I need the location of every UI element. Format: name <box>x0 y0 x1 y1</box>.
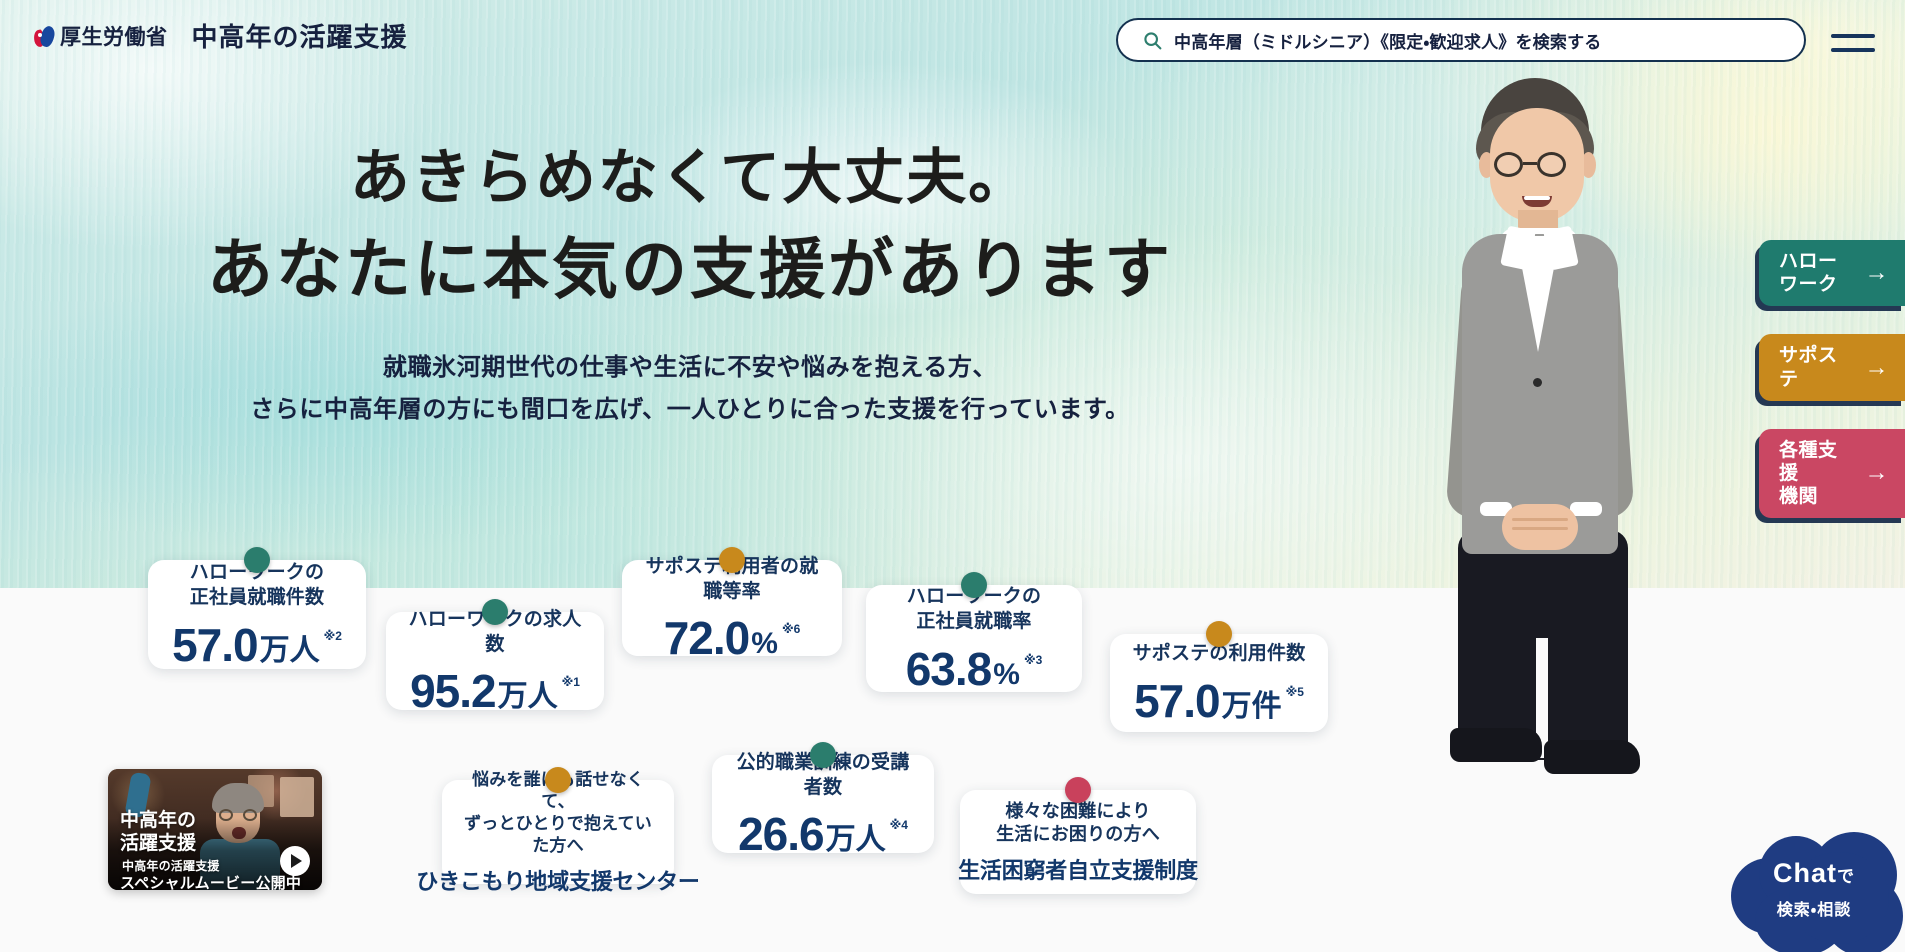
search-input[interactable]: 中高年層（ミドルシニア）《限定・歓迎求人》を検索する <box>1116 18 1806 62</box>
card-value-row: 72.0 % ※6 <box>664 615 801 661</box>
card-link-name: ひきこもり地域支援センター <box>416 869 699 895</box>
mhlw-emblem-icon <box>34 26 55 49</box>
card-pin <box>244 547 270 573</box>
stat-card-sapostay-usage[interactable]: サポステの利用件数 57.0 万件 ※5 <box>1110 634 1328 732</box>
card-value: 95.2 <box>410 668 496 714</box>
card-value-row: 57.0 万人 ※2 <box>172 622 342 668</box>
card-value-row: 26.6 万人 ※4 <box>738 811 908 857</box>
side-tab-support-orgs[interactable]: 各種支援 機関 → <box>1759 429 1905 519</box>
card-unit: % <box>751 629 778 659</box>
brand-lockup[interactable]: 厚生労働省 中高年の活躍支援 <box>34 24 408 50</box>
page-root: 厚生労働省 中高年の活躍支援 中高年層（ミドルシニア）《限定・歓迎求人》を検索す… <box>0 0 1905 952</box>
card-unit: 万人 <box>260 636 320 666</box>
card-value: 57.0 <box>1134 678 1220 724</box>
ministry-name: 厚生労働省 <box>60 27 168 48</box>
chat-label-group: Chatで 検索・相談 <box>1731 860 1897 920</box>
side-tab-group: ハロー ワーク → サポステ → 各種支援 機関 → <box>1759 240 1905 518</box>
stat-card-hellowork-openings[interactable]: ハローワークの求人数 95.2 万人 ※1 <box>386 612 604 710</box>
card-pin <box>719 547 745 573</box>
card-link-name: 生活困窮者自立支援制度 <box>958 858 1198 884</box>
side-tab-sapostay-label: サポステ <box>1779 344 1857 390</box>
card-footnote: ※1 <box>562 676 580 688</box>
side-tab-hellowork-label: ハロー ワーク <box>1779 250 1838 296</box>
card-value-row: 63.8 % ※3 <box>906 646 1043 692</box>
stat-card-hellowork-fulltime-placements[interactable]: ハローワークの 正社員就職件数 57.0 万人 ※2 <box>148 560 366 669</box>
card-value: 26.6 <box>738 811 824 857</box>
stat-card-vocational-training[interactable]: 公的職業訓練の受講者数 26.6 万人 ※4 <box>712 755 934 853</box>
card-value: 63.8 <box>906 646 992 692</box>
chat-bubble-button[interactable]: Chatで 検索・相談 <box>1731 832 1897 952</box>
page-title: 中高年の活躍支援 <box>192 24 408 50</box>
card-pin <box>1206 621 1232 647</box>
card-pin <box>482 599 508 625</box>
card-footnote: ※2 <box>324 630 342 642</box>
stat-card-group: ハローワークの 正社員就職件数 57.0 万人 ※2 ハローワークの求人数 95… <box>0 0 1905 952</box>
card-footnote: ※3 <box>1024 654 1042 666</box>
hamburger-menu-icon[interactable] <box>1831 30 1875 56</box>
card-unit: % <box>993 660 1020 690</box>
site-header: 厚生労働省 中高年の活躍支援 中高年層（ミドルシニア）《限定・歓迎求人》を検索す… <box>0 0 1905 80</box>
chat-label-chat: Chat <box>1773 858 1837 888</box>
card-value-row: 95.2 万人 ※1 <box>410 668 580 714</box>
card-title: 様々な困難により 生活にお困りの方へ <box>996 800 1160 847</box>
chat-label-suffix: で <box>1837 867 1855 886</box>
card-pin <box>961 572 987 598</box>
side-tab-support-orgs-label: 各種支援 機関 <box>1779 439 1857 509</box>
search-placeholder-text: 中高年層（ミドルシニア）《限定・歓迎求人》を検索する <box>1174 28 1601 53</box>
ministry-logo[interactable]: 厚生労働省 <box>34 26 168 49</box>
stat-card-sapostay-employment-rate[interactable]: サポステ利用者の就職等率 72.0 % ※6 <box>622 560 842 656</box>
card-value-row: 57.0 万件 ※5 <box>1134 678 1304 724</box>
chat-label-main: Chatで <box>1731 860 1897 887</box>
card-value: 57.0 <box>172 622 258 668</box>
card-footnote: ※6 <box>782 623 800 635</box>
card-pin <box>810 742 836 768</box>
card-pin <box>1065 777 1091 803</box>
card-unit: 万件 <box>1222 692 1282 722</box>
arrow-right-icon: → <box>1865 356 1890 380</box>
search-icon <box>1142 30 1163 51</box>
chat-label-sub: 検索・相談 <box>1731 896 1897 920</box>
side-tab-hellowork[interactable]: ハロー ワーク → <box>1759 240 1905 306</box>
card-footnote: ※4 <box>890 819 908 831</box>
arrow-right-icon: → <box>1865 461 1890 485</box>
link-card-needy-self-reliance[interactable]: 様々な困難により 生活にお困りの方へ 生活困窮者自立支援制度 <box>960 790 1196 894</box>
stat-card-hellowork-fulltime-rate[interactable]: ハローワークの 正社員就職率 63.8 % ※3 <box>866 585 1082 692</box>
card-footnote: ※5 <box>1286 686 1304 698</box>
side-tab-sapostay[interactable]: サポステ → <box>1759 334 1905 400</box>
card-pin <box>545 767 571 793</box>
card-unit: 万人 <box>826 825 886 855</box>
link-card-hikikomori-center[interactable]: 悩みを誰にも話せなくて、 ずっとひとりで抱えていた方へ ひきこもり地域支援センタ… <box>442 780 674 884</box>
card-unit: 万人 <box>498 682 558 712</box>
arrow-right-icon: → <box>1865 261 1890 285</box>
card-value: 72.0 <box>664 615 750 661</box>
